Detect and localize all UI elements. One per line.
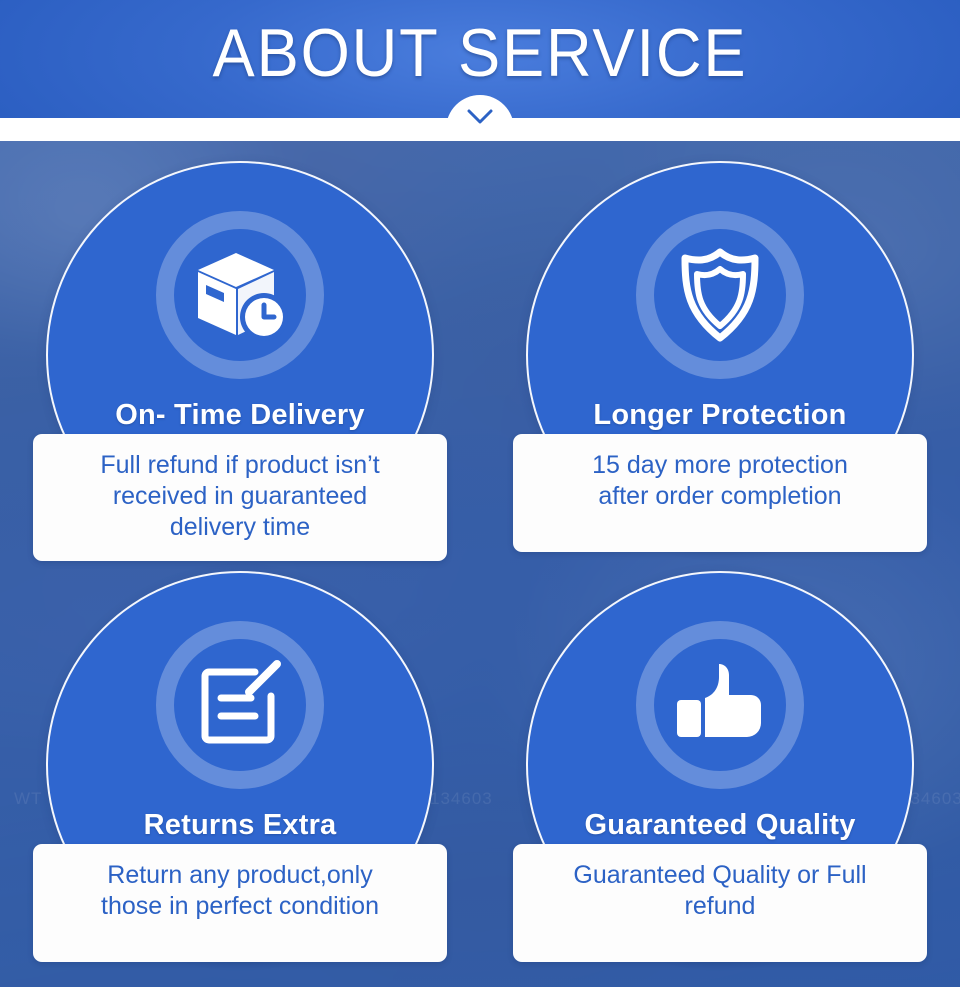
service-card-guaranteed-quality[interactable]: Guaranteed Quality Guaranteed Quality or…: [510, 563, 930, 973]
service-card-on-time-delivery[interactable]: On- Time Delivery Full refund if product…: [30, 153, 450, 563]
card-title: Longer Protection: [528, 398, 912, 432]
thumbs-up-icon: [636, 621, 804, 789]
cards-grid: On- Time Delivery Full refund if product…: [0, 141, 960, 987]
card-description: Guaranteed Quality or Full refund: [573, 860, 866, 922]
service-cards-section: WT 134603 134603: [0, 141, 960, 987]
card-description: Return any product,only those in perfect…: [101, 860, 379, 922]
card-description: 15 day more protection after order compl…: [592, 450, 848, 512]
chevron-down-icon: [467, 109, 493, 125]
card-title: Guaranteed Quality: [528, 808, 912, 842]
service-card-returns-extra[interactable]: Returns Extra Return any product,only th…: [30, 563, 450, 973]
card-description-box: Guaranteed Quality or Full refund: [513, 844, 927, 962]
package-clock-icon: [156, 211, 324, 379]
card-title: On- Time Delivery: [48, 398, 432, 432]
card-description: Full refund if product isn’t received in…: [100, 450, 379, 543]
card-description-box: Return any product,only those in perfect…: [33, 844, 447, 962]
card-title: Returns Extra: [48, 808, 432, 842]
document-edit-icon: [156, 621, 324, 789]
card-description-box: 15 day more protection after order compl…: [513, 434, 927, 552]
page-title: ABOUT SERVICE: [34, 16, 927, 90]
card-description-box: Full refund if product isn’t received in…: [33, 434, 447, 561]
shield-icon: [636, 211, 804, 379]
about-service-banner: ABOUT SERVICE WT 134603 134603: [0, 0, 960, 987]
service-card-longer-protection[interactable]: Longer Protection 15 day more protection…: [510, 153, 930, 563]
